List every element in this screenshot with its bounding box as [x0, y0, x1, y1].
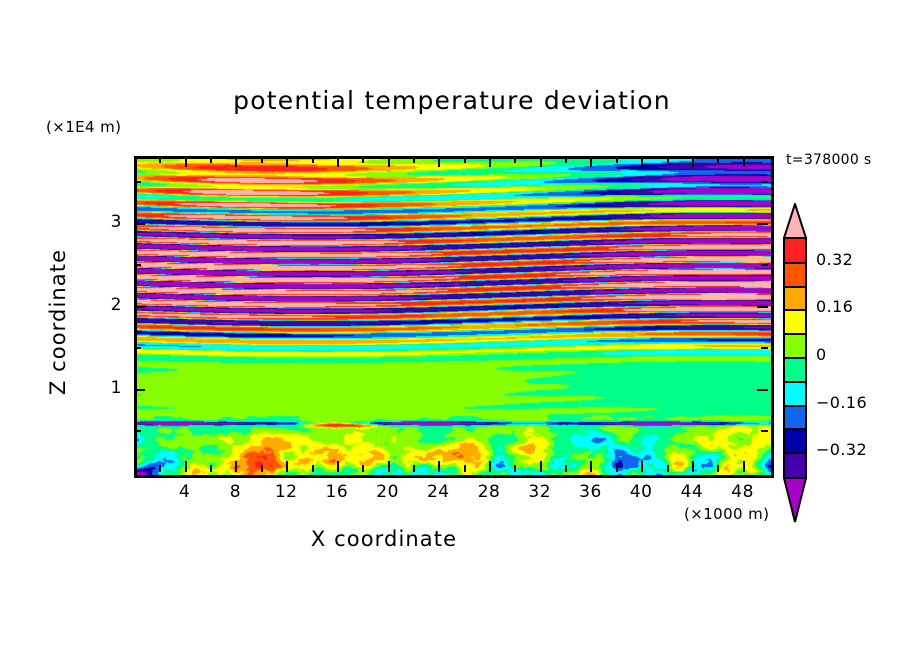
colorbar-low-cap	[783, 477, 807, 523]
x-top-tick-44	[692, 156, 694, 167]
colorbar-band-1	[785, 263, 805, 287]
x-top-tick-22	[413, 156, 415, 163]
x-top-tick-24	[438, 156, 440, 167]
y-minor-tick-0.5	[134, 430, 141, 432]
x-top-tick-14	[312, 156, 314, 163]
y-major-tick-3	[134, 223, 145, 225]
x-major-tick-12	[286, 461, 288, 472]
x-tick-label-28: 28	[467, 482, 511, 502]
x-tick-label-48: 48	[721, 482, 765, 502]
y-major-tick-2	[134, 306, 145, 308]
y-right-tick-0.5	[761, 430, 768, 432]
y-right-tick-2.5	[761, 264, 768, 266]
x-minor-tick-14	[312, 465, 314, 472]
colorbar-separator-2	[785, 286, 805, 288]
x-top-tick-36	[590, 156, 592, 167]
contour-figure: potential temperature deviation (×1E4 m)…	[0, 0, 904, 654]
x-minor-tick-22	[413, 465, 415, 472]
y-right-tick-2	[757, 306, 768, 308]
colorbar-separator-9	[785, 452, 805, 454]
colorbar-separator-3	[785, 309, 805, 311]
x-top-tick-20	[388, 156, 390, 167]
colorbar-band-5	[785, 358, 805, 382]
colorbar-label-2: 0	[816, 345, 827, 364]
y-major-tick-1	[134, 389, 145, 391]
x-major-tick-44	[692, 461, 694, 472]
y-axis-unit-label: (×1E4 m)	[46, 118, 121, 136]
x-top-tick-6	[210, 156, 212, 163]
colorbar-label-3: −0.16	[816, 393, 867, 412]
x-major-tick-40	[641, 461, 643, 472]
x-axis-unit-label: (×1000 m)	[684, 505, 769, 523]
y-tick-label-3: 3	[100, 212, 122, 232]
colorbar-label-4: −0.32	[816, 440, 867, 459]
x-top-tick-8	[235, 156, 237, 167]
x-top-tick-28	[489, 156, 491, 167]
x-tick-label-40: 40	[619, 482, 663, 502]
y-right-tick-1	[757, 389, 768, 391]
x-top-tick-42	[667, 156, 669, 163]
y-right-tick-1.5	[761, 347, 768, 349]
colorbar-band-7	[785, 406, 805, 430]
x-tick-label-4: 4	[163, 482, 207, 502]
x-minor-tick-30	[514, 465, 516, 472]
x-major-tick-28	[489, 461, 491, 472]
colorbar-band-0	[785, 239, 805, 263]
colorbar-label-0: 0.32	[816, 250, 853, 269]
x-top-tick-4	[185, 156, 187, 167]
x-minor-tick-34	[565, 465, 567, 472]
x-top-tick-10	[261, 156, 263, 163]
x-top-tick-2	[159, 156, 161, 163]
x-major-tick-48	[743, 461, 745, 472]
colorbar-separator-6	[785, 381, 805, 383]
colorbar-band-4	[785, 334, 805, 358]
x-major-tick-20	[388, 461, 390, 472]
x-top-tick-18	[362, 156, 364, 163]
colorbar-label-1: 0.16	[816, 297, 853, 316]
x-minor-tick-38	[616, 465, 618, 472]
x-tick-label-44: 44	[670, 482, 714, 502]
colorbar-separator-4	[785, 333, 805, 335]
x-tick-label-16: 16	[315, 482, 359, 502]
x-tick-label-24: 24	[416, 482, 460, 502]
colorbar-band-9	[785, 453, 805, 477]
x-top-tick-40	[641, 156, 643, 167]
page-title: potential temperature deviation	[0, 86, 904, 115]
y-tick-label-1: 1	[100, 378, 122, 398]
colorbar-band-6	[785, 382, 805, 406]
colorbar-high-cap	[783, 203, 807, 239]
colorbar-separator-8	[785, 428, 805, 430]
x-top-tick-46	[717, 156, 719, 163]
x-tick-label-36: 36	[568, 482, 612, 502]
colorbar-band-3	[785, 310, 805, 334]
x-tick-label-12: 12	[264, 482, 308, 502]
y-minor-tick-3.5	[134, 181, 141, 183]
x-minor-tick-46	[717, 465, 719, 472]
y-right-tick-3	[757, 223, 768, 225]
x-top-tick-38	[616, 156, 618, 163]
contour-plot-area[interactable]	[134, 156, 774, 478]
colorbar-separator-7	[785, 405, 805, 407]
colorbar-separator-5	[785, 357, 805, 359]
colorbar-band-2	[785, 287, 805, 311]
x-major-tick-24	[438, 461, 440, 472]
x-major-tick-32	[540, 461, 542, 472]
x-top-tick-32	[540, 156, 542, 167]
timestamp-annotation: t=378000 s	[786, 152, 871, 168]
x-top-tick-12	[286, 156, 288, 167]
colorbar[interactable]	[783, 237, 807, 479]
x-major-tick-8	[235, 461, 237, 472]
x-major-tick-16	[337, 461, 339, 472]
x-major-tick-36	[590, 461, 592, 472]
y-minor-tick-1.5	[134, 347, 141, 349]
x-major-tick-4	[185, 461, 187, 472]
x-top-tick-30	[514, 156, 516, 163]
x-tick-label-20: 20	[366, 482, 410, 502]
contour-field	[137, 159, 771, 475]
colorbar-band-8	[785, 429, 805, 453]
x-top-tick-16	[337, 156, 339, 167]
x-top-tick-48	[743, 156, 745, 167]
x-minor-tick-10	[261, 465, 263, 472]
y-axis-label: Z coordinate	[46, 152, 70, 492]
x-top-tick-34	[565, 156, 567, 163]
y-right-tick-3.5	[761, 181, 768, 183]
x-minor-tick-2	[159, 465, 161, 472]
x-top-tick-26	[464, 156, 466, 163]
x-tick-label-32: 32	[518, 482, 562, 502]
x-minor-tick-18	[362, 465, 364, 472]
x-tick-label-8: 8	[213, 482, 257, 502]
x-minor-tick-6	[210, 465, 212, 472]
x-minor-tick-26	[464, 465, 466, 472]
colorbar-separator-1	[785, 262, 805, 264]
y-tick-label-2: 2	[100, 295, 122, 315]
x-minor-tick-42	[667, 465, 669, 472]
x-axis-label: X coordinate	[0, 527, 768, 551]
y-minor-tick-2.5	[134, 264, 141, 266]
